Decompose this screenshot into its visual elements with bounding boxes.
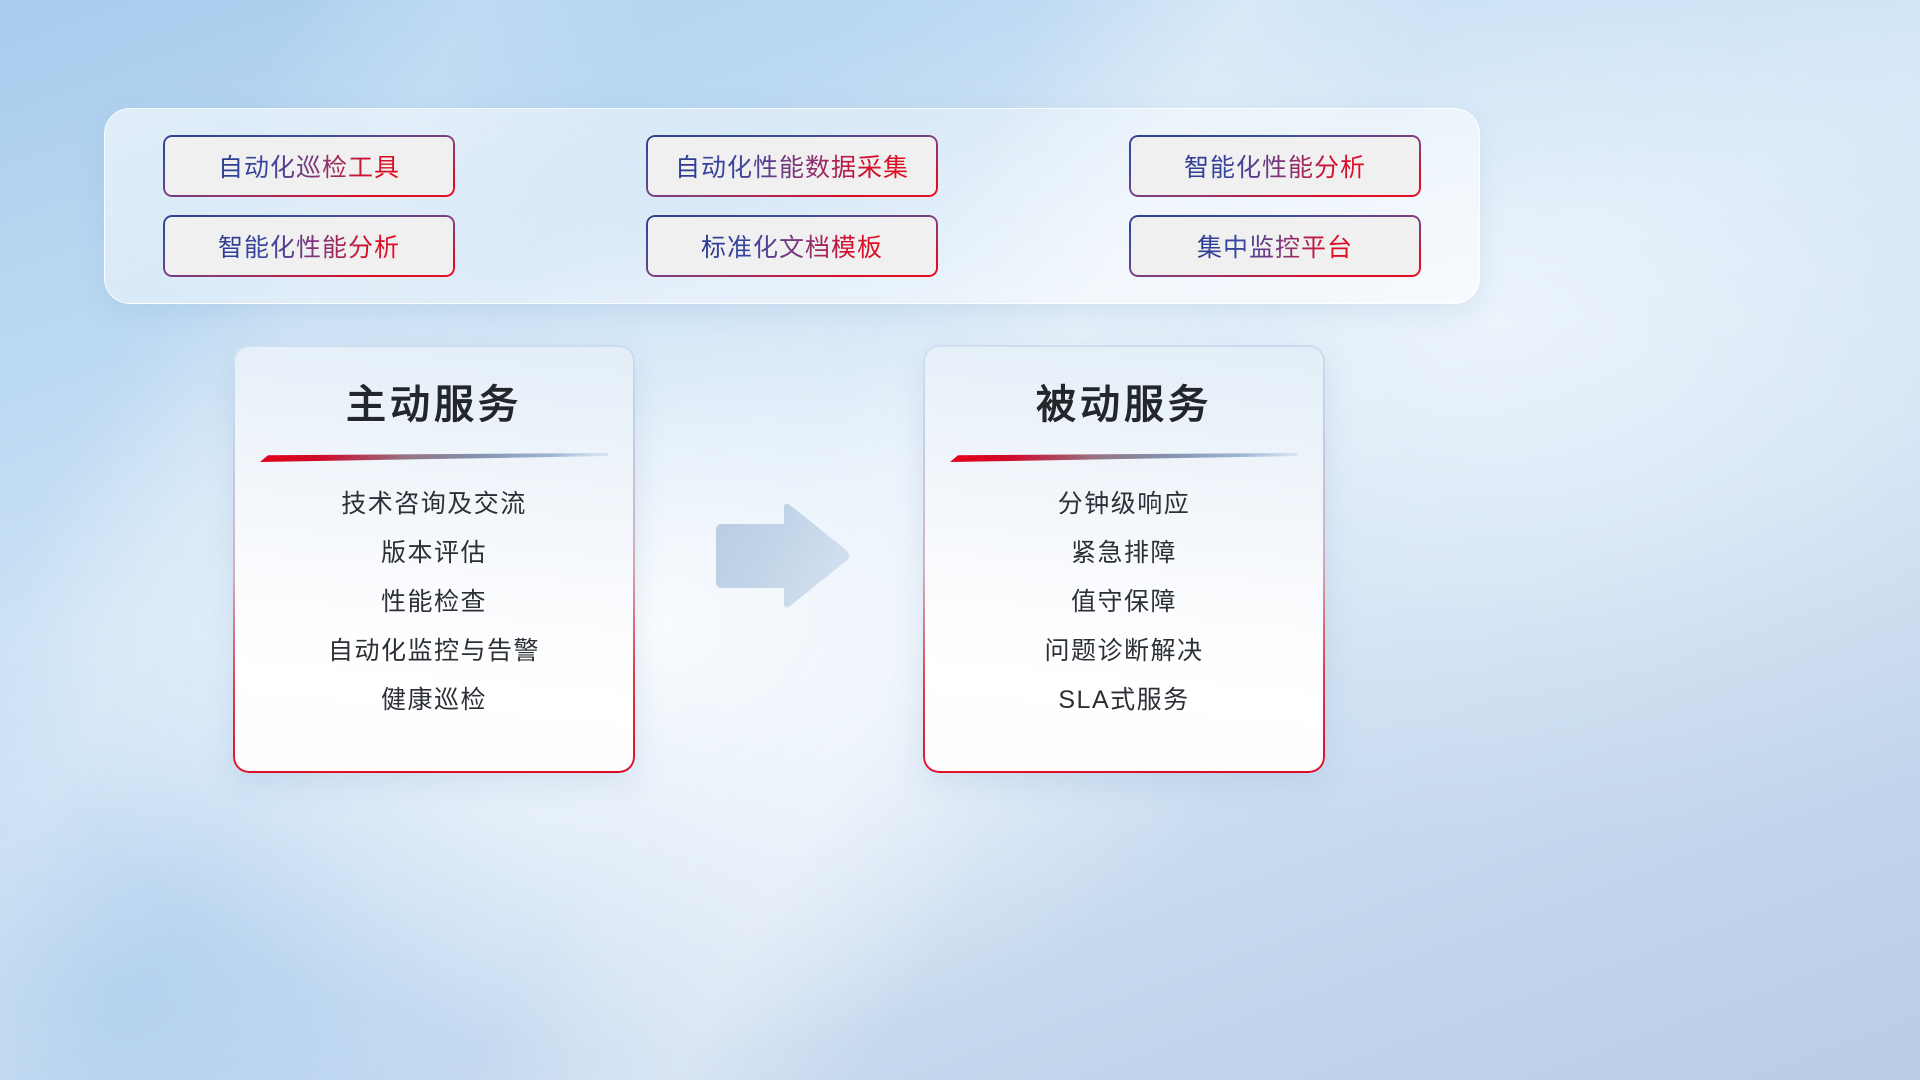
- tag-pill-label: 自动化性能数据采集: [675, 148, 909, 184]
- tag-pill-automated-performance-data-collection[interactable]: 自动化性能数据采集: [646, 135, 938, 197]
- card-inner: 被动服务 分钟级响应 紧急排障 值守保障: [923, 345, 1325, 773]
- list-item: 版本评估: [381, 541, 487, 566]
- list-item: 问题诊断解决: [1044, 639, 1203, 664]
- list-item: 紧急排障: [1071, 541, 1177, 566]
- card-inner: 主动服务 技术咨询及交流 版本评估 性能检查: [233, 345, 635, 773]
- tag-pill-intelligent-performance-analysis-2[interactable]: 智能化性能分析: [163, 215, 455, 277]
- poster-stage: 自动化巡检工具 自动化性能数据采集 智能化性能分析 智能化性能分析 标准化文档模…: [0, 0, 1920, 1080]
- title-underline-decoration: [260, 453, 608, 462]
- tag-pill-standardized-document-template[interactable]: 标准化文档模板: [646, 215, 938, 277]
- card-item-list: 技术咨询及交流 版本评估 性能检查 自动化监控与告警 健康巡检: [233, 492, 635, 713]
- list-item: SLA式服务: [1058, 688, 1189, 713]
- tag-row-2: 智能化性能分析 标准化文档模板 集中监控平台: [163, 215, 1421, 277]
- right-arrow-icon: [712, 500, 852, 612]
- list-item: 健康巡检: [381, 688, 487, 713]
- tag-pill-label: 自动化巡检工具: [218, 148, 400, 184]
- list-item: 性能检查: [381, 590, 487, 615]
- card-title: 主动服务: [346, 385, 522, 425]
- tag-pill-label: 智能化性能分析: [1184, 148, 1366, 184]
- tag-pill-label: 标准化文档模板: [701, 228, 883, 264]
- tag-pill-centralized-monitoring-platform[interactable]: 集中监控平台: [1129, 215, 1421, 277]
- list-item: 技术咨询及交流: [341, 492, 527, 517]
- card-item-list: 分钟级响应 紧急排障 值守保障 问题诊断解决 SLA式服务: [923, 492, 1325, 713]
- list-item: 分钟级响应: [1058, 492, 1191, 517]
- list-item: 自动化监控与告警: [328, 639, 540, 664]
- proactive-service-card[interactable]: 主动服务 技术咨询及交流 版本评估 性能检查: [233, 345, 635, 773]
- capability-tag-panel: 自动化巡检工具 自动化性能数据采集 智能化性能分析 智能化性能分析 标准化文档模…: [104, 108, 1480, 304]
- tag-pill-intelligent-performance-analysis[interactable]: 智能化性能分析: [1129, 135, 1421, 197]
- title-underline-decoration: [950, 453, 1298, 462]
- reactive-service-card[interactable]: 被动服务 分钟级响应 紧急排障 值守保障: [923, 345, 1325, 773]
- card-title: 被动服务: [1036, 385, 1212, 425]
- list-item: 值守保障: [1071, 590, 1177, 615]
- tag-pill-label: 集中监控平台: [1197, 228, 1353, 264]
- tag-row-1: 自动化巡检工具 自动化性能数据采集 智能化性能分析: [163, 135, 1421, 197]
- tag-pill-automated-inspection-tool[interactable]: 自动化巡检工具: [163, 135, 455, 197]
- tag-pill-label: 智能化性能分析: [218, 228, 400, 264]
